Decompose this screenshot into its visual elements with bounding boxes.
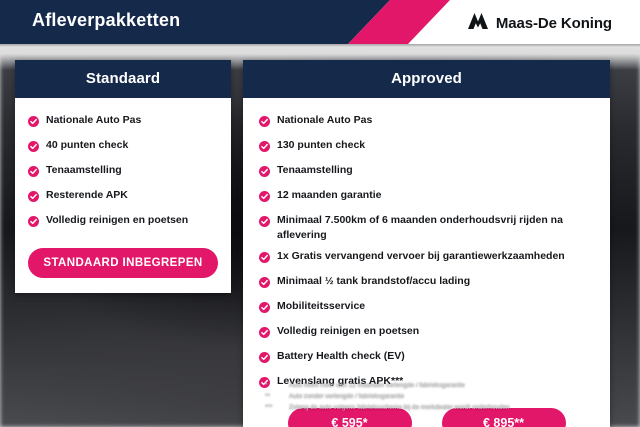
feature-label: Tenaamstelling [46, 163, 122, 178]
feature-label: Resterende APK [46, 188, 128, 203]
check-circle-icon [28, 114, 39, 132]
check-circle-icon [259, 214, 270, 232]
list-item: Resterende APK [15, 185, 231, 210]
list-item: Minimaal 7.500km of 6 maanden onderhouds… [243, 210, 610, 246]
feature-label: 1x Gratis vervangend vervoer bij garanti… [277, 249, 565, 264]
card-body-standaard: Nationale Auto Pas 40 punten check Tenaa… [15, 98, 231, 293]
list-item: Battery Health check (EV) [243, 346, 610, 371]
check-circle-icon [259, 139, 270, 157]
card-body-approved: Nationale Auto Pas 130 punten check Tena… [243, 98, 610, 427]
feature-label: Tenaamstelling [277, 163, 353, 178]
check-circle-icon [28, 189, 39, 207]
feature-label: Volledig reinigen en poetsen [46, 213, 188, 228]
feature-label: 40 punten check [46, 138, 128, 153]
feature-label: 12 maanden garantie [277, 188, 381, 203]
list-item: Volledig reinigen en poetsen [243, 321, 610, 346]
footnote-text: Auto heeft meer dan 12 maanden verlengde… [289, 380, 465, 391]
feature-label: Minimaal 7.500km of 6 maanden onderhouds… [277, 213, 598, 243]
footnote-text: Zolang de auto volgens fabrieksschema bi… [289, 402, 510, 413]
brand-lockup: Maas-De Koning [467, 12, 612, 35]
feature-label: Minimaal ½ tank brandstof/accu lading [277, 274, 470, 289]
footnote-marker: * [265, 380, 289, 391]
footnote-marker: *** [265, 402, 289, 413]
check-circle-icon [259, 164, 270, 182]
list-item: Nationale Auto Pas [15, 110, 231, 135]
brand-name: Maas-De Koning [496, 15, 612, 32]
check-circle-icon [259, 189, 270, 207]
list-item: Nationale Auto Pas [243, 110, 610, 135]
feature-label: Nationale Auto Pas [277, 113, 372, 128]
check-circle-icon [28, 139, 39, 157]
header-shadow [0, 44, 640, 47]
check-circle-icon [28, 164, 39, 182]
feature-label: 130 punten check [277, 138, 365, 153]
card-title-approved: Approved [243, 60, 610, 98]
list-item: Mobiliteitsservice [243, 296, 610, 321]
check-circle-icon [259, 114, 270, 132]
list-item: Tenaamstelling [243, 160, 610, 185]
list-item: 40 punten check [15, 135, 231, 160]
feature-label: Volledig reinigen en poetsen [277, 324, 419, 339]
cta-wrap-standaard: STANDAARD INBEGREPEN [15, 235, 231, 280]
feature-list-approved: Nationale Auto Pas 130 punten check Tena… [243, 110, 610, 396]
feature-label: Mobiliteitsservice [277, 299, 365, 314]
feature-list-standaard: Nationale Auto Pas 40 punten check Tenaa… [15, 110, 231, 235]
footnote-3: *** Zolang de auto volgens fabrieksschem… [265, 402, 625, 413]
card-title-standaard: Standaard [15, 60, 231, 98]
check-circle-icon [259, 325, 270, 343]
list-item: 130 punten check [243, 135, 610, 160]
list-item: Minimaal ½ tank brandstof/accu lading [243, 271, 610, 296]
afleverpakketten-page: Afleverpakketten Maas-De Koning Standaar… [0, 0, 640, 427]
feature-label: Battery Health check (EV) [277, 349, 405, 364]
footnote-text: Auto zonder verlengde / fabrieksgarantie [289, 391, 404, 402]
check-circle-icon [259, 350, 270, 368]
list-item: Tenaamstelling [15, 160, 231, 185]
maas-de-koning-logo-icon [467, 12, 489, 35]
page-header: Afleverpakketten Maas-De Koning [0, 0, 640, 44]
package-card-standaard: Standaard Nationale Auto Pas 40 punten c… [15, 60, 231, 293]
check-circle-icon [259, 275, 270, 293]
list-item: Volledig reinigen en poetsen [15, 210, 231, 235]
check-circle-icon [28, 214, 39, 232]
feature-label: Nationale Auto Pas [46, 113, 141, 128]
footnotes: * Auto heeft meer dan 12 maanden verleng… [265, 380, 625, 414]
page-title: Afleverpakketten [32, 10, 180, 31]
footnote-marker: ** [265, 391, 289, 402]
check-circle-icon [259, 300, 270, 318]
footnote-1: * Auto heeft meer dan 12 maanden verleng… [265, 380, 625, 391]
list-item: 12 maanden garantie [243, 185, 610, 210]
list-item: 1x Gratis vervangend vervoer bij garanti… [243, 246, 610, 271]
package-card-approved: Approved Nationale Auto Pas 130 punten c… [243, 60, 610, 427]
standaard-inbegrepen-button[interactable]: STANDAARD INBEGREPEN [28, 248, 218, 278]
check-circle-icon [259, 250, 270, 268]
footnote-2: ** Auto zonder verlengde / fabrieksgaran… [265, 391, 625, 402]
